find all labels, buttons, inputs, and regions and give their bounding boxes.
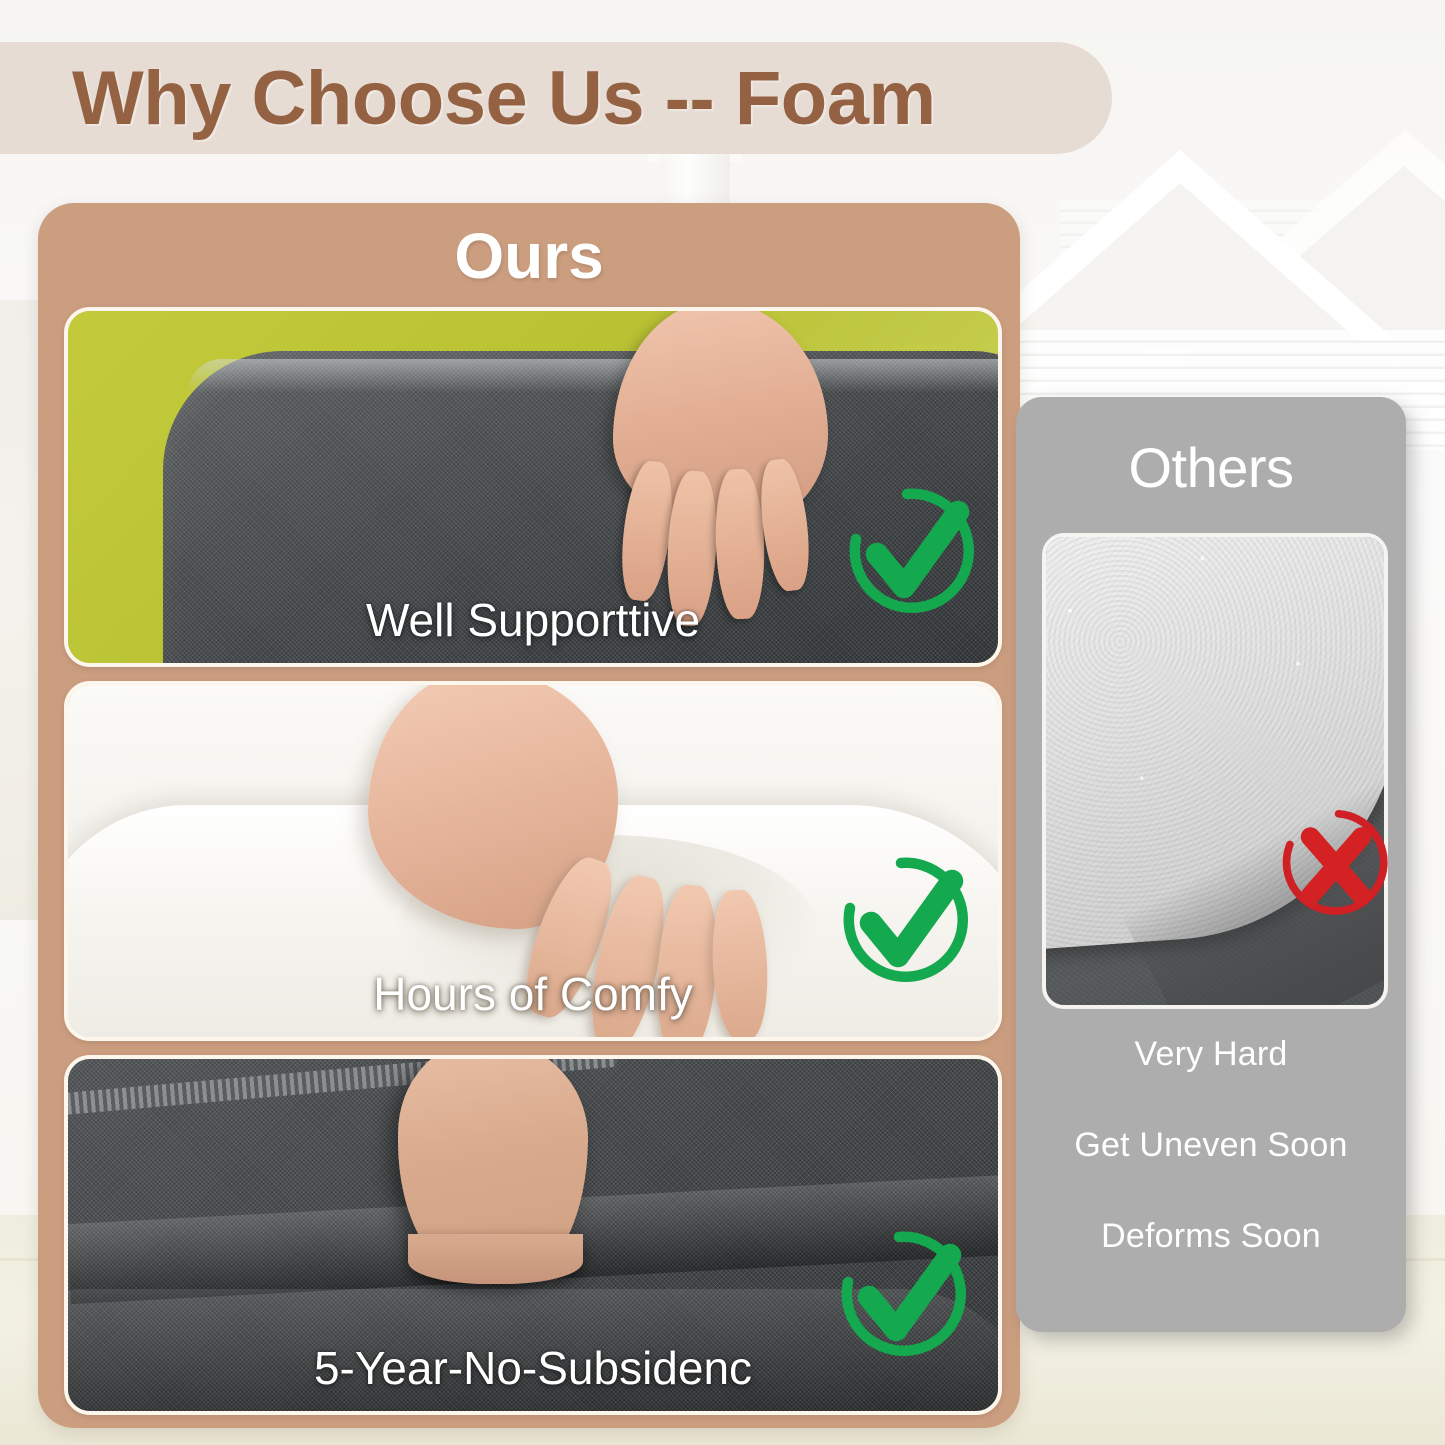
cushion-seam	[188, 359, 1002, 393]
title-banner: Why Choose Us -- Foam	[0, 42, 1112, 154]
others-drawback-list: Very Hard Get Uneven Soon Deforms Soon	[1016, 1035, 1406, 1308]
infographic-canvas: Why Choose Us -- Foam Ours	[0, 0, 1445, 1445]
drawback-item: Very Hard	[1016, 1035, 1406, 1074]
green-check-icon	[832, 845, 982, 995]
others-heading: Others	[1016, 435, 1406, 500]
gable-roof-left-inner	[992, 183, 1368, 349]
ours-card: 5-Year-No-Subsidenc	[64, 1055, 1002, 1415]
drawback-item: Deforms Soon	[1016, 1217, 1406, 1256]
green-check-icon	[830, 1219, 980, 1369]
ours-card: Hours of Comfy	[64, 681, 1002, 1041]
ours-heading: Ours	[38, 219, 1020, 293]
green-check-icon	[838, 476, 988, 626]
ours-panel: Ours Well Supporttive	[38, 203, 1020, 1428]
ours-card-list: Well Supporttive Hours o	[64, 307, 994, 1429]
others-panel: Others Very Hard Get Uneven Soon Deforms…	[1016, 397, 1406, 1332]
ours-card: Well Supporttive	[64, 307, 1002, 667]
red-x-icon	[1272, 801, 1400, 929]
drawback-item: Get Uneven Soon	[1016, 1126, 1406, 1165]
toes-shape	[408, 1234, 583, 1284]
page-title: Why Choose Us -- Foam	[72, 55, 936, 142]
competitor-foam-photo	[1042, 533, 1388, 1009]
